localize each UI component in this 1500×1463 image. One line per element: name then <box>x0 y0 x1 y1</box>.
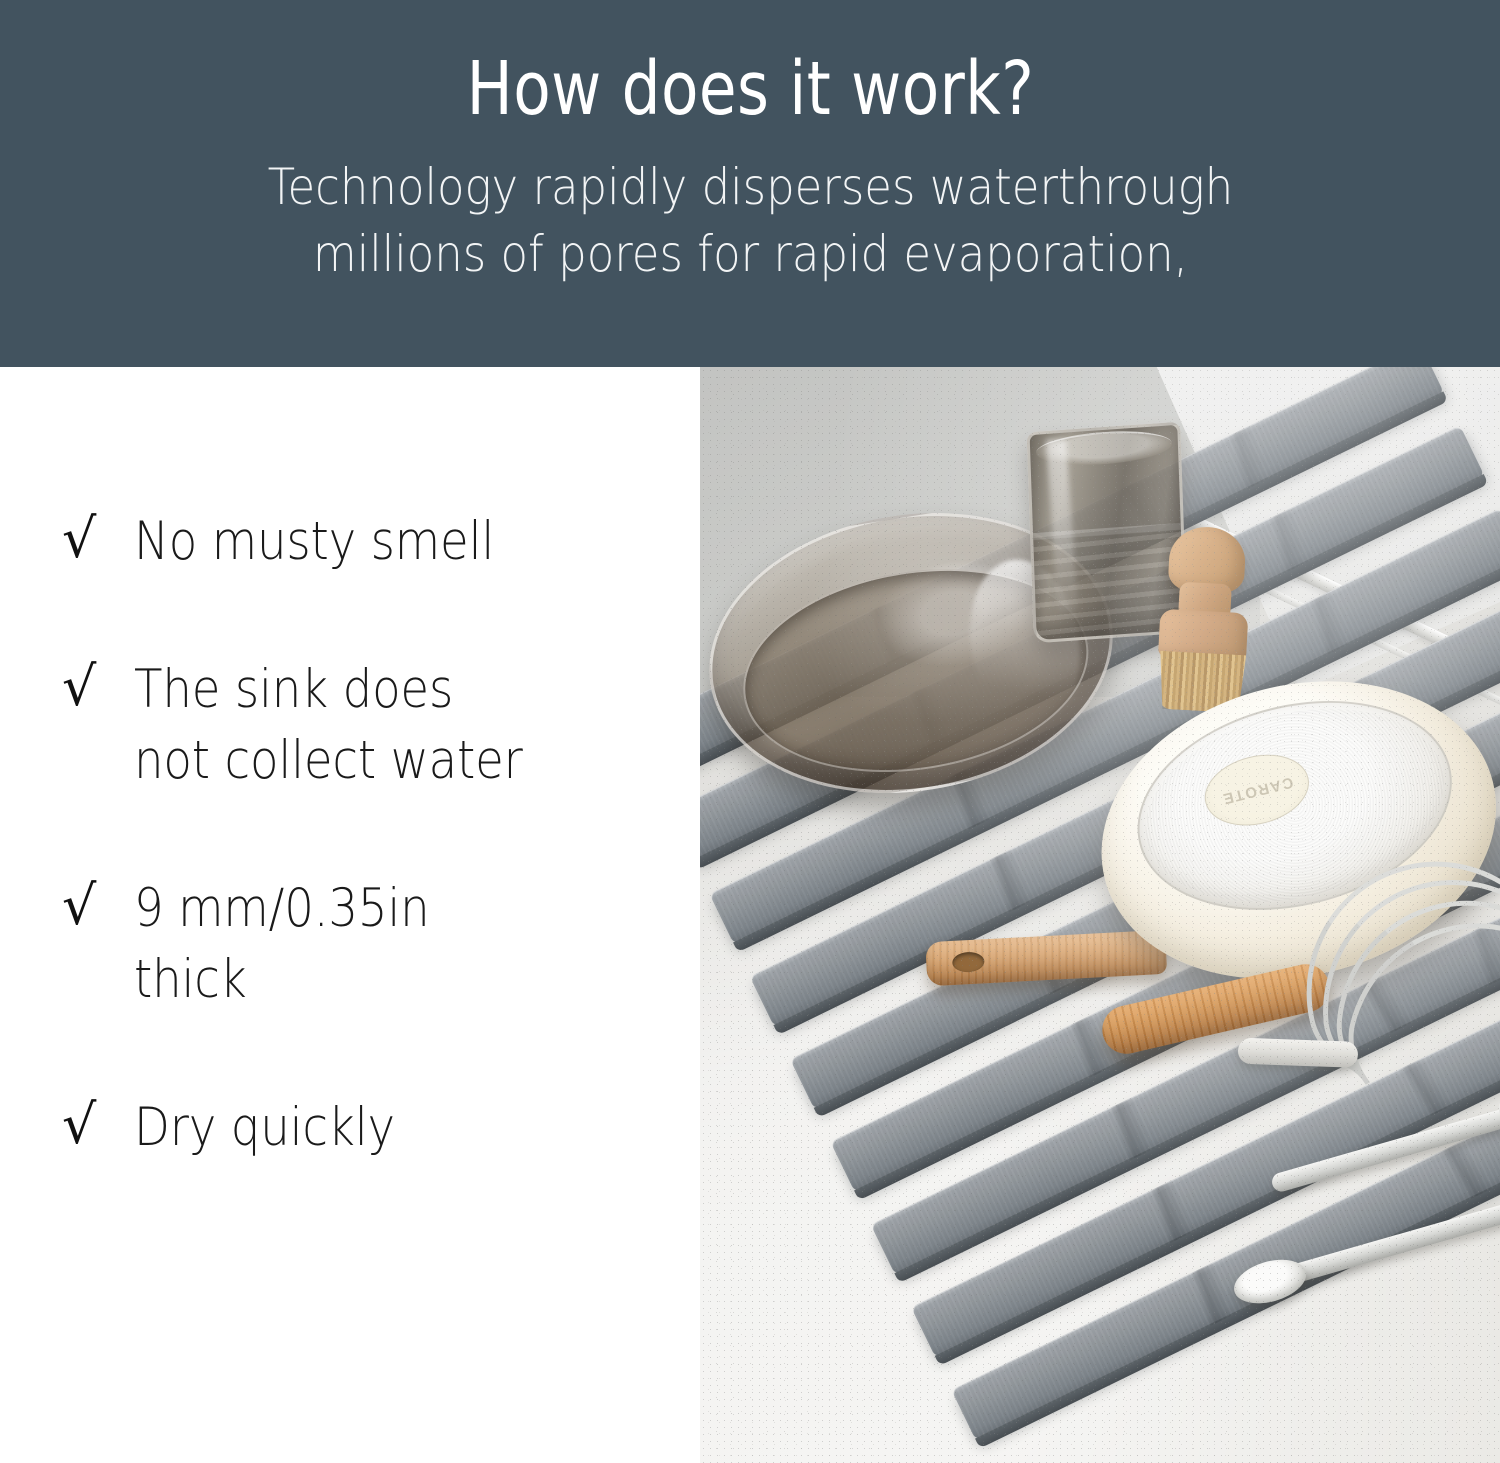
feature-label: No musty smell <box>134 507 616 577</box>
feature-item-thickness: √ 9 mm/0.35in thick <box>62 874 682 1015</box>
check-icon: √ <box>62 874 134 935</box>
feature-list: √ No musty smell √ The sink does not col… <box>62 507 682 1164</box>
feature-line: Dry quickly <box>134 1093 616 1163</box>
feature-label: 9 mm/0.35in thick <box>134 874 616 1015</box>
check-icon: √ <box>62 507 134 568</box>
feature-item-no-musty-smell: √ No musty smell <box>62 507 682 577</box>
feature-line: 9 mm/0.35in <box>134 874 616 944</box>
photo-scene: CAROTE <box>700 367 1500 1463</box>
header-banner: How does it work? Technology rapidly dis… <box>0 0 1500 367</box>
feature-line: No musty smell <box>134 507 616 577</box>
counter-speckle-texture <box>700 367 1500 1463</box>
feature-line: The sink does <box>134 655 616 725</box>
feature-label: Dry quickly <box>134 1093 616 1163</box>
check-icon: √ <box>62 1093 134 1154</box>
subtitle-line-2: millions of pores for rapid evaporation, <box>267 221 1233 288</box>
feature-label: The sink does not collect water <box>134 655 616 796</box>
feature-item-sink-no-water: √ The sink does not collect water <box>62 655 682 796</box>
page-title: How does it work? <box>466 52 1033 126</box>
product-photo: CAROTE <box>700 367 1500 1463</box>
feature-panel: √ No musty smell √ The sink does not col… <box>0 367 700 1463</box>
subtitle-line-1: Technology rapidly disperses waterthroug… <box>267 154 1233 221</box>
feature-line: not collect water <box>134 726 616 796</box>
header-subtitle: Technology rapidly disperses waterthroug… <box>267 154 1233 287</box>
feature-item-dry-quickly: √ Dry quickly <box>62 1093 682 1163</box>
check-icon: √ <box>62 655 134 716</box>
feature-line: thick <box>134 945 616 1015</box>
